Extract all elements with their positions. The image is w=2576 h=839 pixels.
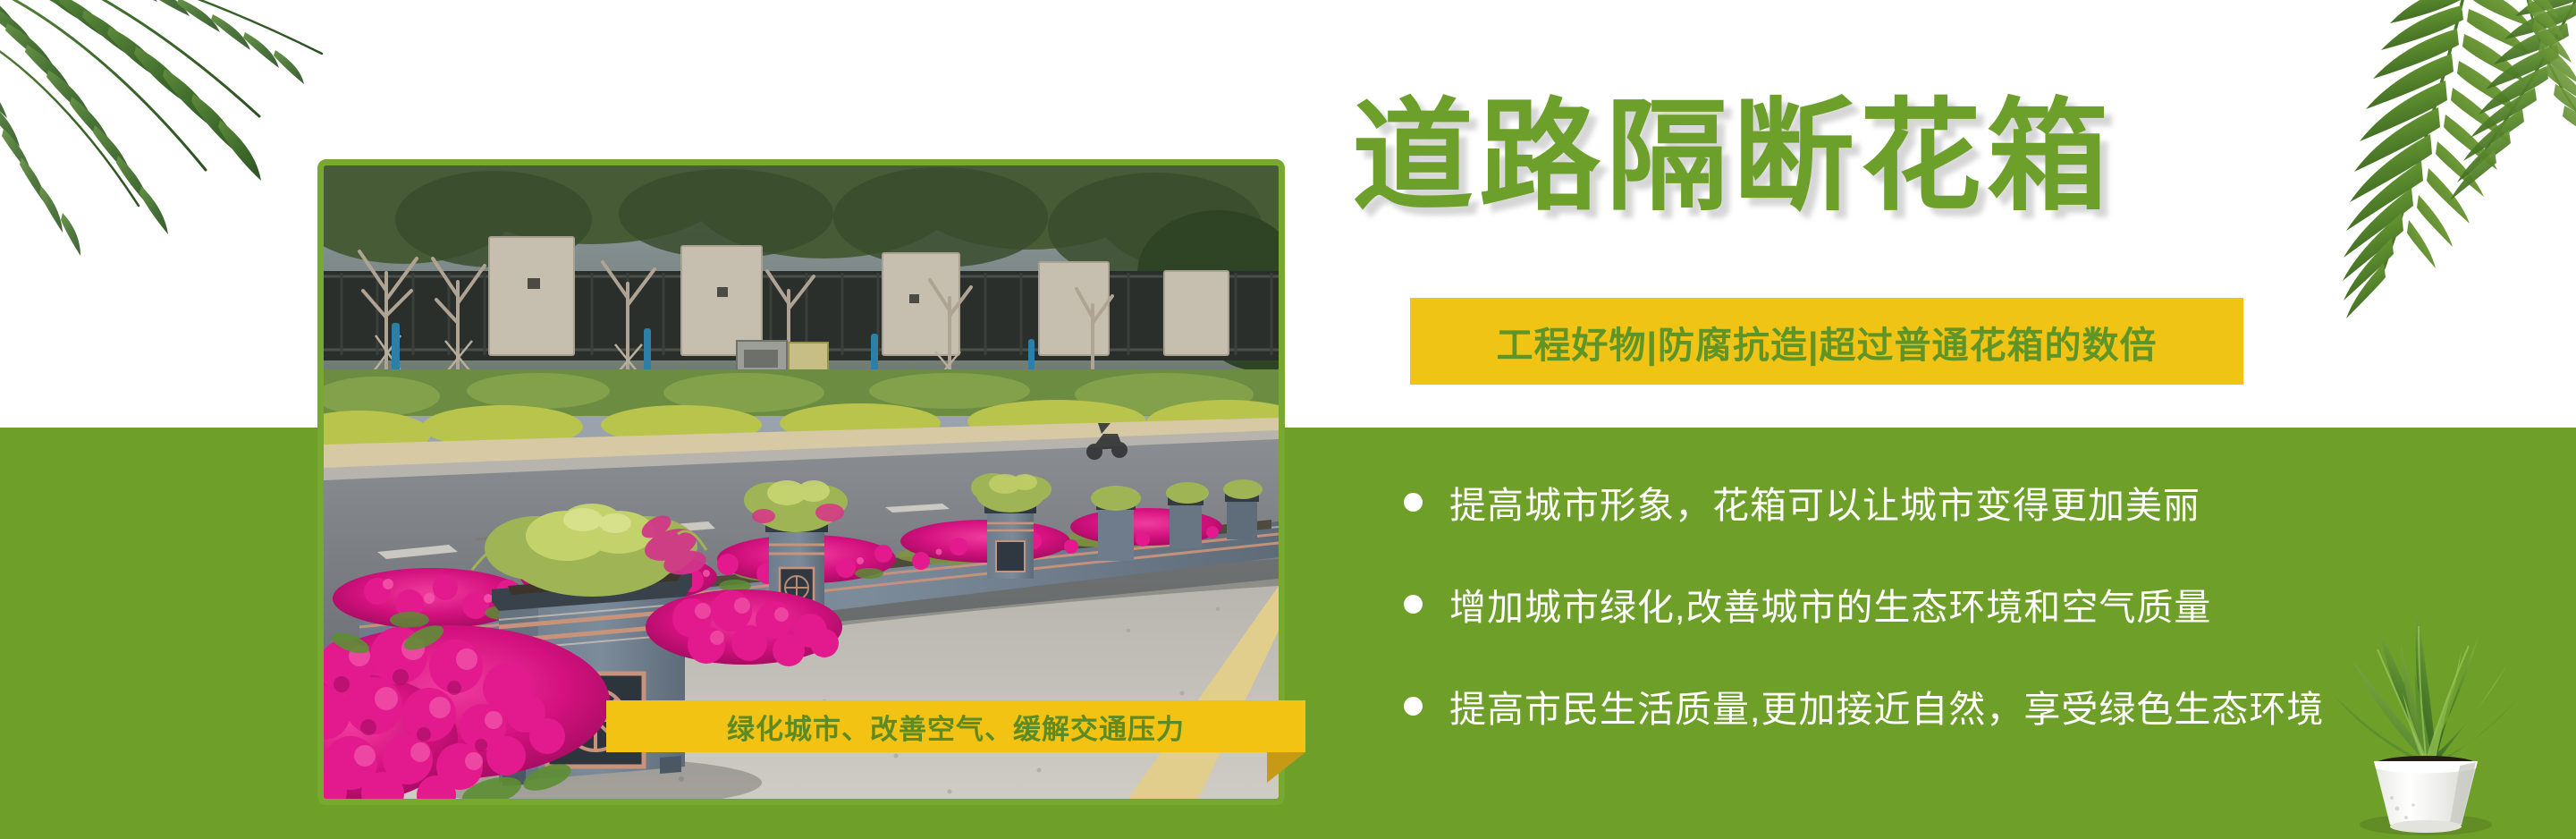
photo-caption-band: 绿化城市、改善空气、缓解交通压力 bbox=[606, 700, 1305, 752]
bullet-dot-icon bbox=[1404, 697, 1423, 716]
photo-caption-text: 绿化城市、改善空气、缓解交通压力 bbox=[727, 707, 1185, 747]
feature-highlight-banner: 工程好物|防腐抗造|超过普通花箱的数倍 bbox=[1410, 298, 2243, 385]
caption-ribbon-fold bbox=[1267, 752, 1305, 783]
list-item-label: 增加城市绿化,改善城市的生态环境和空气质量 bbox=[1449, 577, 2211, 631]
list-item-label: 提高城市形象，花箱可以让城市变得更加美丽 bbox=[1449, 475, 2200, 529]
bullet-dot-icon bbox=[1404, 595, 1423, 614]
bullet-dot-icon bbox=[1404, 493, 1423, 512]
list-item: 提高城市形象，花箱可以让城市变得更加美丽 bbox=[1391, 467, 2572, 537]
list-item-label: 提高市民生活质量,更加接近自然，享受绿色生态环境 bbox=[1449, 679, 2324, 733]
page-title: 道路隔断花箱 bbox=[1352, 79, 2114, 234]
potted-plant-icon bbox=[2292, 578, 2560, 837]
palm-frond-icon bbox=[2200, 0, 2576, 331]
feature-highlight-text: 工程好物|防腐抗造|超过普通花箱的数倍 bbox=[1497, 315, 2158, 369]
product-banner: 绿化城市、改善空气、缓解交通压力 道路隔断花箱 工程好物|防腐抗造|超过普通花箱… bbox=[0, 0, 2576, 839]
